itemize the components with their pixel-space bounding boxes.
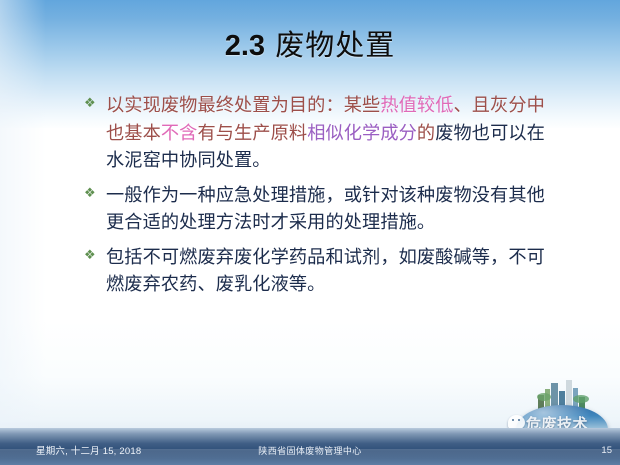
bullet-1-segment-2: 热值较低 (380, 95, 453, 116)
bullet-1-segment-7: 的 (417, 123, 435, 144)
slide-content: ❖ 以实现废物最终处置为目的：某些热值较低、且灰分中也基本不含有与生产原料相似化… (84, 92, 556, 306)
bullet-item-1: ❖ 以实现废物最终处置为目的：某些热值较低、且灰分中也基本不含有与生产原料相似化… (84, 92, 556, 175)
footer-organization: 陕西省固体废物管理中心 (0, 444, 620, 457)
diamond-bullet-icon: ❖ (84, 92, 106, 110)
bullet-1-segment-5: 有与生产原料 (197, 123, 307, 144)
slide-title-text: 废物处置 (275, 28, 395, 62)
bullet-item-2: ❖ 一般作为一种应急处理措施，或针对该种废物没有其他更合适的处理方法时才采用的处… (84, 182, 556, 237)
bullet-text-2: 一般作为一种应急处理措施，或针对该种废物没有其他更合适的处理方法时才采用的处理措… (106, 182, 556, 237)
bullet-text-3: 包括不可燃废弃废化学药品和试剂，如废酸碱等，不可燃废弃农药、废乳化液等。 (106, 244, 556, 299)
bullet-1-segment-4: 不含 (161, 123, 198, 144)
slide-title: 2.3 废物处置 (0, 22, 620, 64)
presentation-slide: 2.3 废物处置 ❖ 以实现废物最终处置为目的：某些热值较低、且灰分中也基本不含… (0, 0, 620, 465)
footer-page-number: 15 (601, 445, 612, 456)
bullet-1-segment-1: 以实现废物最终处置为目的：某些 (106, 95, 380, 116)
slide-title-number: 2.3 (225, 30, 265, 62)
bullet-1-segment-6: 相似化学成分 (307, 123, 417, 144)
bullet-text-1: 以实现废物最终处置为目的：某些热值较低、且灰分中也基本不含有与生产原料相似化学成… (106, 92, 556, 175)
diamond-bullet-icon: ❖ (84, 182, 106, 200)
diamond-bullet-icon: ❖ (84, 244, 106, 262)
bullet-item-3: ❖ 包括不可燃废弃废化学药品和试剂，如废酸碱等，不可燃废弃农药、废乳化液等。 (84, 244, 556, 299)
